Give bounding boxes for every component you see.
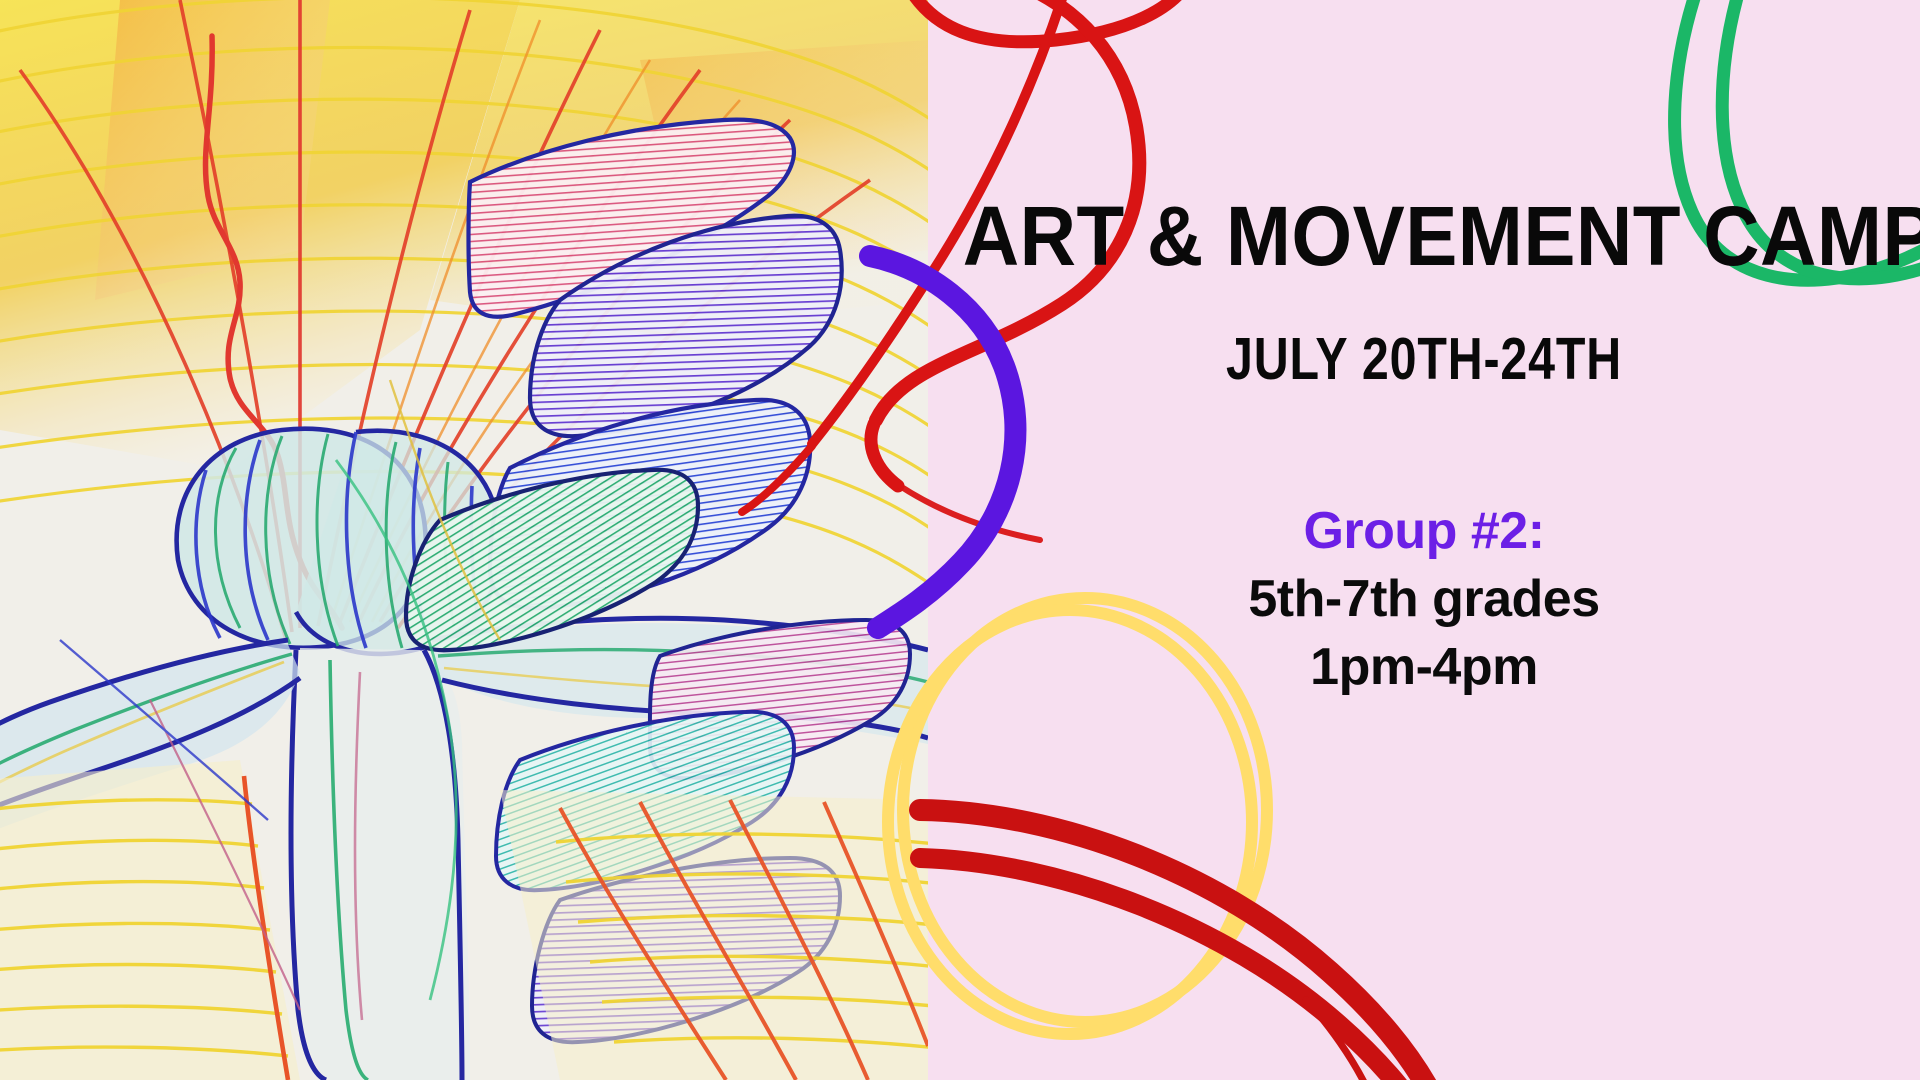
camp-flyer: ART & MOVEMENT CAMP JULY 20TH-24TH Group… [0,0,1920,1080]
group-time: 1pm-4pm [928,633,1920,702]
artwork-illustration [0,0,928,1080]
camp-artwork-image [0,0,928,1080]
group-label: Group #2: [928,498,1920,565]
group-info-block: Group #2: 5th-7th grades 1pm-4pm [928,498,1920,702]
group-grades: 5th-7th grades [928,565,1920,634]
camp-dates: JULY 20TH-24TH [1017,330,1830,389]
page-title: ART & MOVEMENT CAMP [963,196,1886,277]
